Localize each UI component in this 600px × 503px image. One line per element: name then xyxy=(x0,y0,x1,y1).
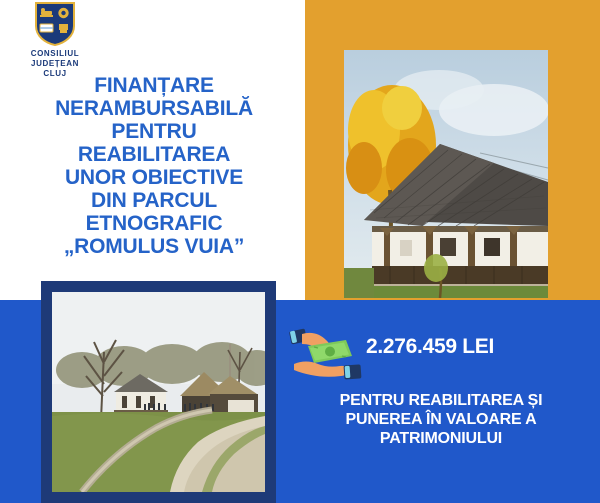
headline-line-5: UNOR OBIECTIVE xyxy=(18,166,290,189)
headline-line-2: NERAMBURSABILĂ xyxy=(18,97,290,120)
caption-line-3: PATRIMONIULUI xyxy=(285,429,597,448)
photo-ethnographic-park xyxy=(52,292,265,492)
headline-line-3: PENTRU xyxy=(18,120,290,143)
headline-line-1: FINANȚARE xyxy=(18,74,290,97)
hands-exchanging-money-icon xyxy=(288,324,366,382)
caption-line-1: PENTRU REABILITAREA ȘI xyxy=(285,391,597,410)
poster-canvas: CONSILIUL JUDEȚEAN CLUJ FINANȚARE NERAMB… xyxy=(0,0,600,503)
coat-of-arms-icon xyxy=(35,2,75,46)
caption-line-2: PUNEREA ÎN VALOARE A xyxy=(285,410,597,429)
headline: FINANȚARE NERAMBURSABILĂ PENTRU REABILIT… xyxy=(18,74,290,258)
funding-amount-row: 2.276.459 LEI xyxy=(288,322,588,384)
headline-line-8: „ROMULUS VUIA” xyxy=(18,235,290,258)
photo-ethnographic-park-frame xyxy=(41,281,276,503)
logo-line-1: CONSILIUL xyxy=(31,49,80,58)
headline-line-6: DIN PARCUL xyxy=(18,189,290,212)
funding-amount: 2.276.459 LEI xyxy=(366,335,586,359)
logo-line-2: JUDEȚEAN xyxy=(31,59,79,68)
headline-line-7: ETNOGRAFIC xyxy=(18,212,290,235)
headline-line-4: REABILITAREA xyxy=(18,143,290,166)
institution-logo: CONSILIUL JUDEȚEAN CLUJ xyxy=(14,2,96,79)
funding-purpose-caption: PENTRU REABILITAREA ȘI PUNEREA ÎN VALOAR… xyxy=(285,391,597,448)
photo-traditional-house xyxy=(344,50,548,298)
